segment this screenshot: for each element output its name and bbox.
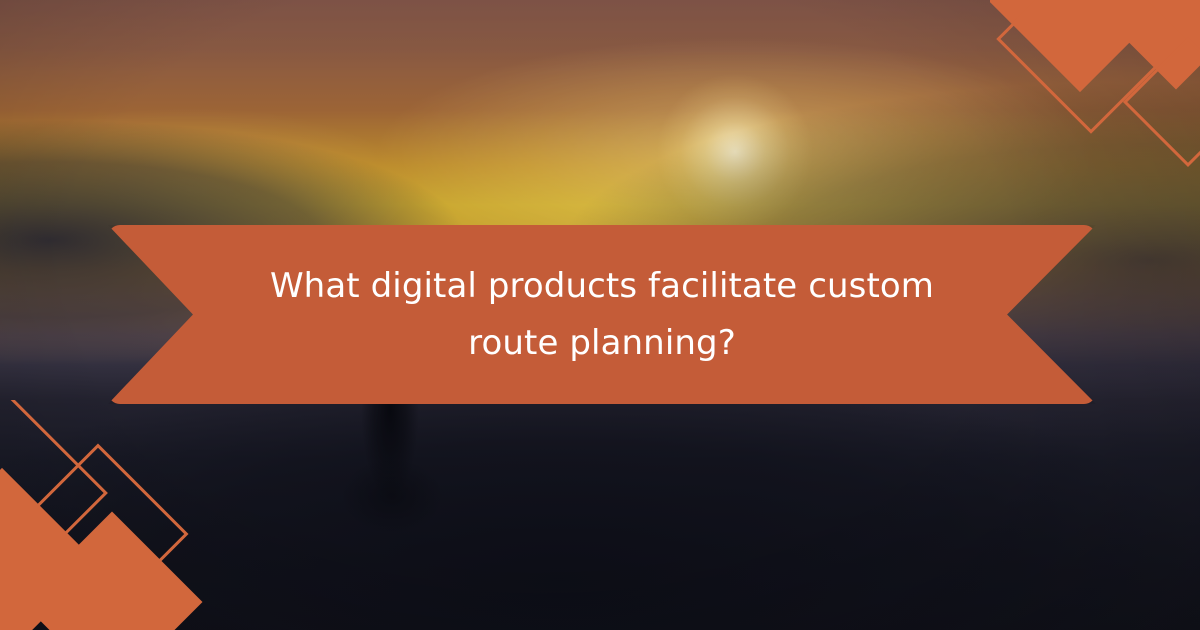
diamond-outline-large-icon	[0, 400, 108, 602]
question-ribbon: What digital products facilitate custom …	[108, 225, 1096, 404]
question-card: What digital products facilitate custom …	[0, 0, 1200, 630]
decoration-bottom-left	[0, 400, 240, 630]
decoration-top-right	[990, 0, 1200, 170]
diamond-filled-small-icon	[21, 511, 202, 630]
diamond-outline-small-icon	[1123, 37, 1200, 167]
diamond-filled-large-icon	[990, 0, 1176, 92]
diamond-filled-small-icon	[1102, 0, 1200, 90]
diamond-outline-small-icon	[7, 443, 188, 624]
diamond-filled-large-icon	[0, 468, 98, 630]
question-text: What digital products facilitate custom …	[222, 258, 982, 372]
diamond-outline-large-icon	[996, 0, 1186, 134]
